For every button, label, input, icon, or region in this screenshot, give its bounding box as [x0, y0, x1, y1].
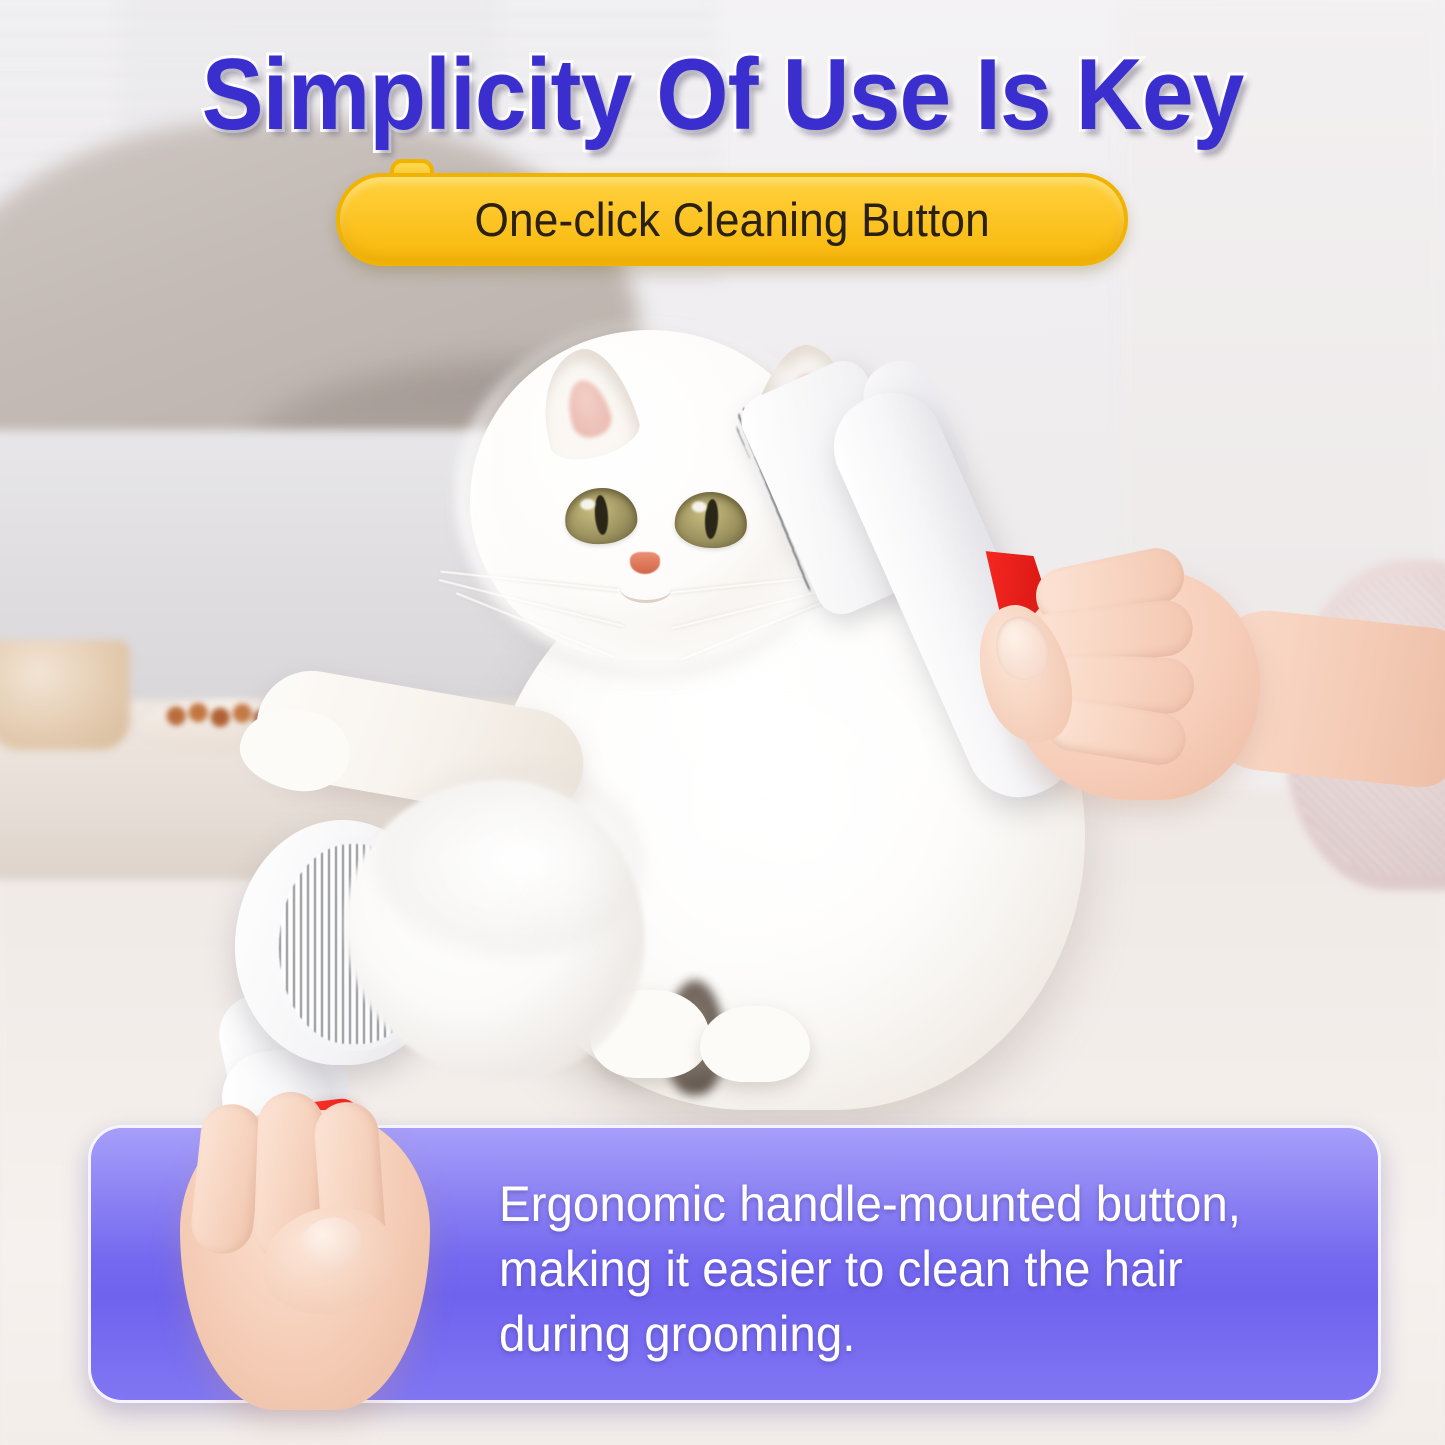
page-title: Simplicity Of Use Is Key [58, 44, 1387, 147]
infographic-canvas: Simplicity Of Use Is Key One-click Clean… [0, 0, 1445, 1445]
hand-bottom-left [150, 1090, 480, 1445]
caption-text: Ergonomic handle-mounted button, making … [499, 1172, 1297, 1367]
feature-badge-label: One-click Cleaning Button [474, 192, 990, 247]
feature-badge: One-click Cleaning Button [336, 173, 1128, 266]
cup [0, 640, 130, 750]
hand-top-right [1000, 530, 1445, 890]
cat-paw-right [700, 1006, 810, 1082]
fur-wisp [370, 760, 645, 960]
